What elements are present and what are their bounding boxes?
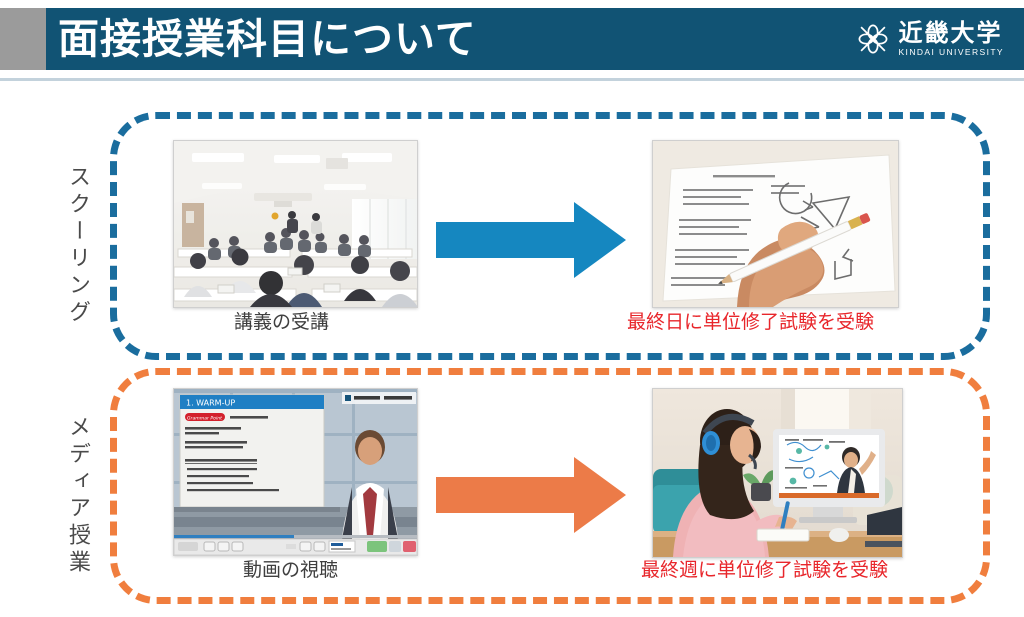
online-learning-photo: [652, 388, 903, 558]
logo-name-en: KINDAI UNIVERSITY: [898, 47, 1004, 58]
header-underline: [0, 78, 1024, 81]
sidebar-label-media: メディア授業: [64, 415, 90, 577]
page-title: 面接授業科目について: [58, 15, 477, 63]
kindai-flower-logo-icon: [856, 22, 890, 56]
svg-text:Grammar Point: Grammar Point: [187, 415, 222, 421]
arrow-right-orange-icon: [436, 455, 626, 535]
logo-name-jp: 近畿大学: [898, 21, 1004, 47]
page-header: 面接授業科目について 近畿大学 KINDAI UNIVERSITY: [0, 8, 1024, 70]
caption-watch-video: 動画の視聴: [243, 558, 338, 582]
caption-final-day-exam: 最終日に単位修了試験を受験: [627, 310, 874, 334]
classroom-lecture-photo: [173, 140, 418, 308]
caption-lecture: 講義の受講: [234, 310, 329, 334]
arrow-right-blue-icon: [436, 200, 626, 280]
exam-paper-writing-photo: [652, 140, 899, 308]
header-gray-block: [0, 8, 46, 70]
caption-final-week-exam: 最終週に単位修了試験を受験: [641, 558, 888, 582]
video-player-screenshot: 1. WARM-UP Grammar Point: [173, 388, 418, 556]
svg-text:1. WARM-UP: 1. WARM-UP: [186, 399, 235, 408]
university-logo: 近畿大学 KINDAI UNIVERSITY: [856, 16, 1004, 62]
sidebar-label-schooling: スクーリング: [64, 165, 90, 327]
